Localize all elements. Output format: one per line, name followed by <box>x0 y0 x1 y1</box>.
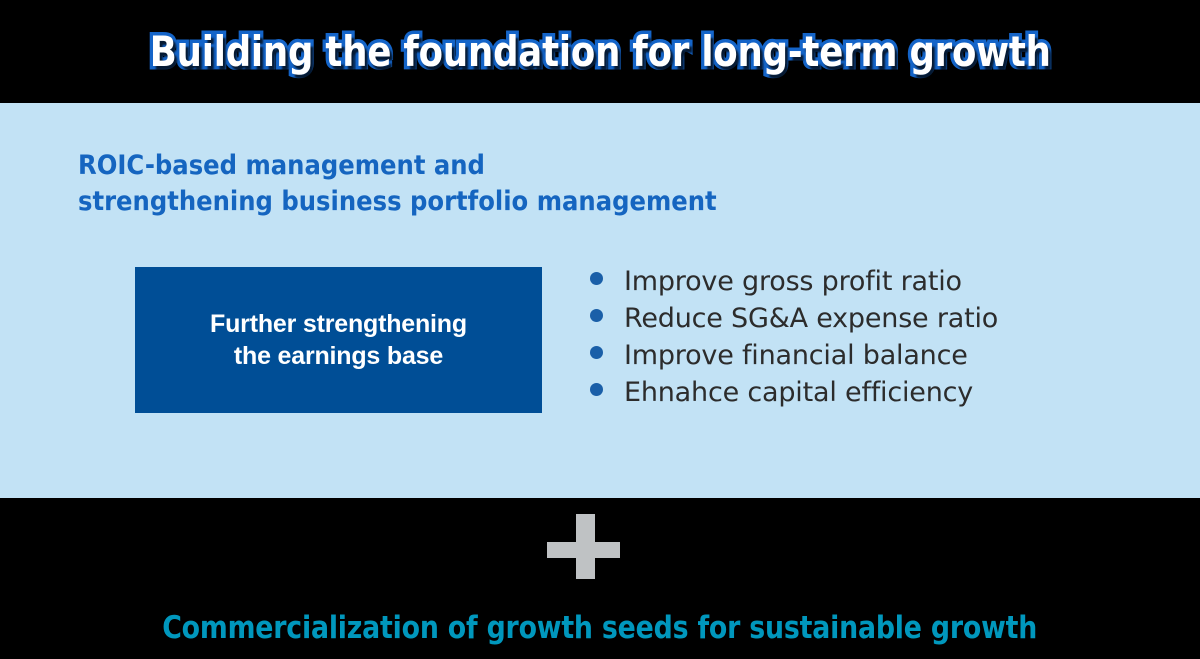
list-item: Reduce SG&A expense ratio <box>590 300 998 337</box>
list-item: Improve financial balance <box>590 337 998 374</box>
callout-box: Further strengthening the earnings base <box>135 267 542 413</box>
list-item: Improve gross profit ratio <box>590 263 998 300</box>
content-panel: ROIC-based management and strengthening … <box>0 103 1200 498</box>
bullet-dot-icon <box>590 309 603 322</box>
bullet-dot-icon <box>590 383 603 396</box>
footer-text: Commercialization of growth seeds for su… <box>163 613 1038 644</box>
plus-icon <box>547 514 620 579</box>
bullet-dot-icon <box>590 346 603 359</box>
callout-text: Further strengthening the earnings base <box>210 308 467 373</box>
plus-icon-horizontal-bar <box>547 542 620 558</box>
slide-root: Building the foundation for long-term gr… <box>0 0 1200 659</box>
bullet-item-label: Improve financial balance <box>624 337 968 374</box>
list-item: Ehnahce capital efficiency <box>590 374 998 411</box>
slide-title-bar: Building the foundation for long-term gr… <box>0 0 1200 103</box>
bullet-item-label: Reduce SG&A expense ratio <box>624 300 998 337</box>
bullet-dot-icon <box>590 272 603 285</box>
slide-title: Building the foundation for long-term gr… <box>149 31 1050 73</box>
footer-bar: Commercialization of growth seeds for su… <box>0 598 1200 659</box>
bullet-item-label: Ehnahce capital efficiency <box>624 374 973 411</box>
panel-heading: ROIC-based management and strengthening … <box>78 148 717 220</box>
bullet-list: Improve gross profit ratio Reduce SG&A e… <box>590 263 998 411</box>
bullet-item-label: Improve gross profit ratio <box>624 263 962 300</box>
